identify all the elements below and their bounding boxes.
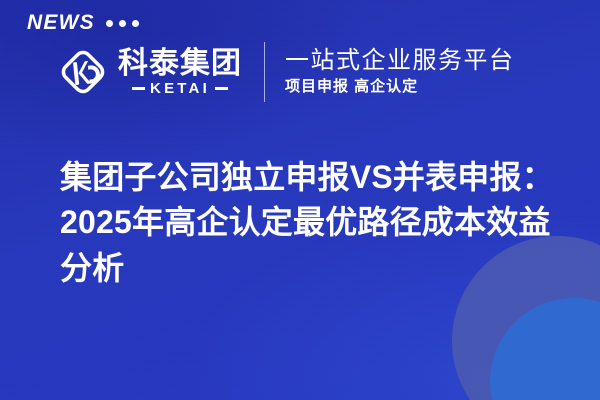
page-title: 集团子公司独立申报VS并表申报：2025年高企认定最优路径成本效益分析 bbox=[60, 155, 560, 291]
news-banner: NEWS 科泰集团 KETAI bbox=[0, 0, 600, 400]
brand-name-cn: 科泰集团 bbox=[118, 48, 242, 80]
tagline: 一站式企业服务平台 项目申报 高企认定 bbox=[285, 47, 515, 97]
brand-wordmark: 科泰集团 KETAI bbox=[118, 48, 242, 96]
eyebrow-dots bbox=[106, 18, 139, 27]
brand-row: 科泰集团 KETAI 一站式企业服务平台 项目申报 高企认定 bbox=[56, 42, 515, 102]
vertical-divider-icon bbox=[264, 42, 265, 102]
eyebrow-label: NEWS bbox=[27, 12, 95, 33]
brand-name-en-row: KETAI bbox=[132, 81, 228, 96]
right-rule-icon bbox=[215, 87, 228, 90]
tagline-sub: 项目申报 高企认定 bbox=[285, 78, 515, 97]
brand-name-en: KETAI bbox=[150, 81, 210, 96]
eyebrow: NEWS bbox=[27, 12, 139, 33]
dot-icon bbox=[119, 20, 126, 27]
ketai-diamond-kd-logo-icon bbox=[56, 45, 110, 99]
dot-icon bbox=[106, 20, 113, 27]
dot-icon bbox=[132, 20, 139, 27]
left-rule-icon bbox=[132, 87, 145, 90]
tagline-main: 一站式企业服务平台 bbox=[285, 47, 515, 75]
